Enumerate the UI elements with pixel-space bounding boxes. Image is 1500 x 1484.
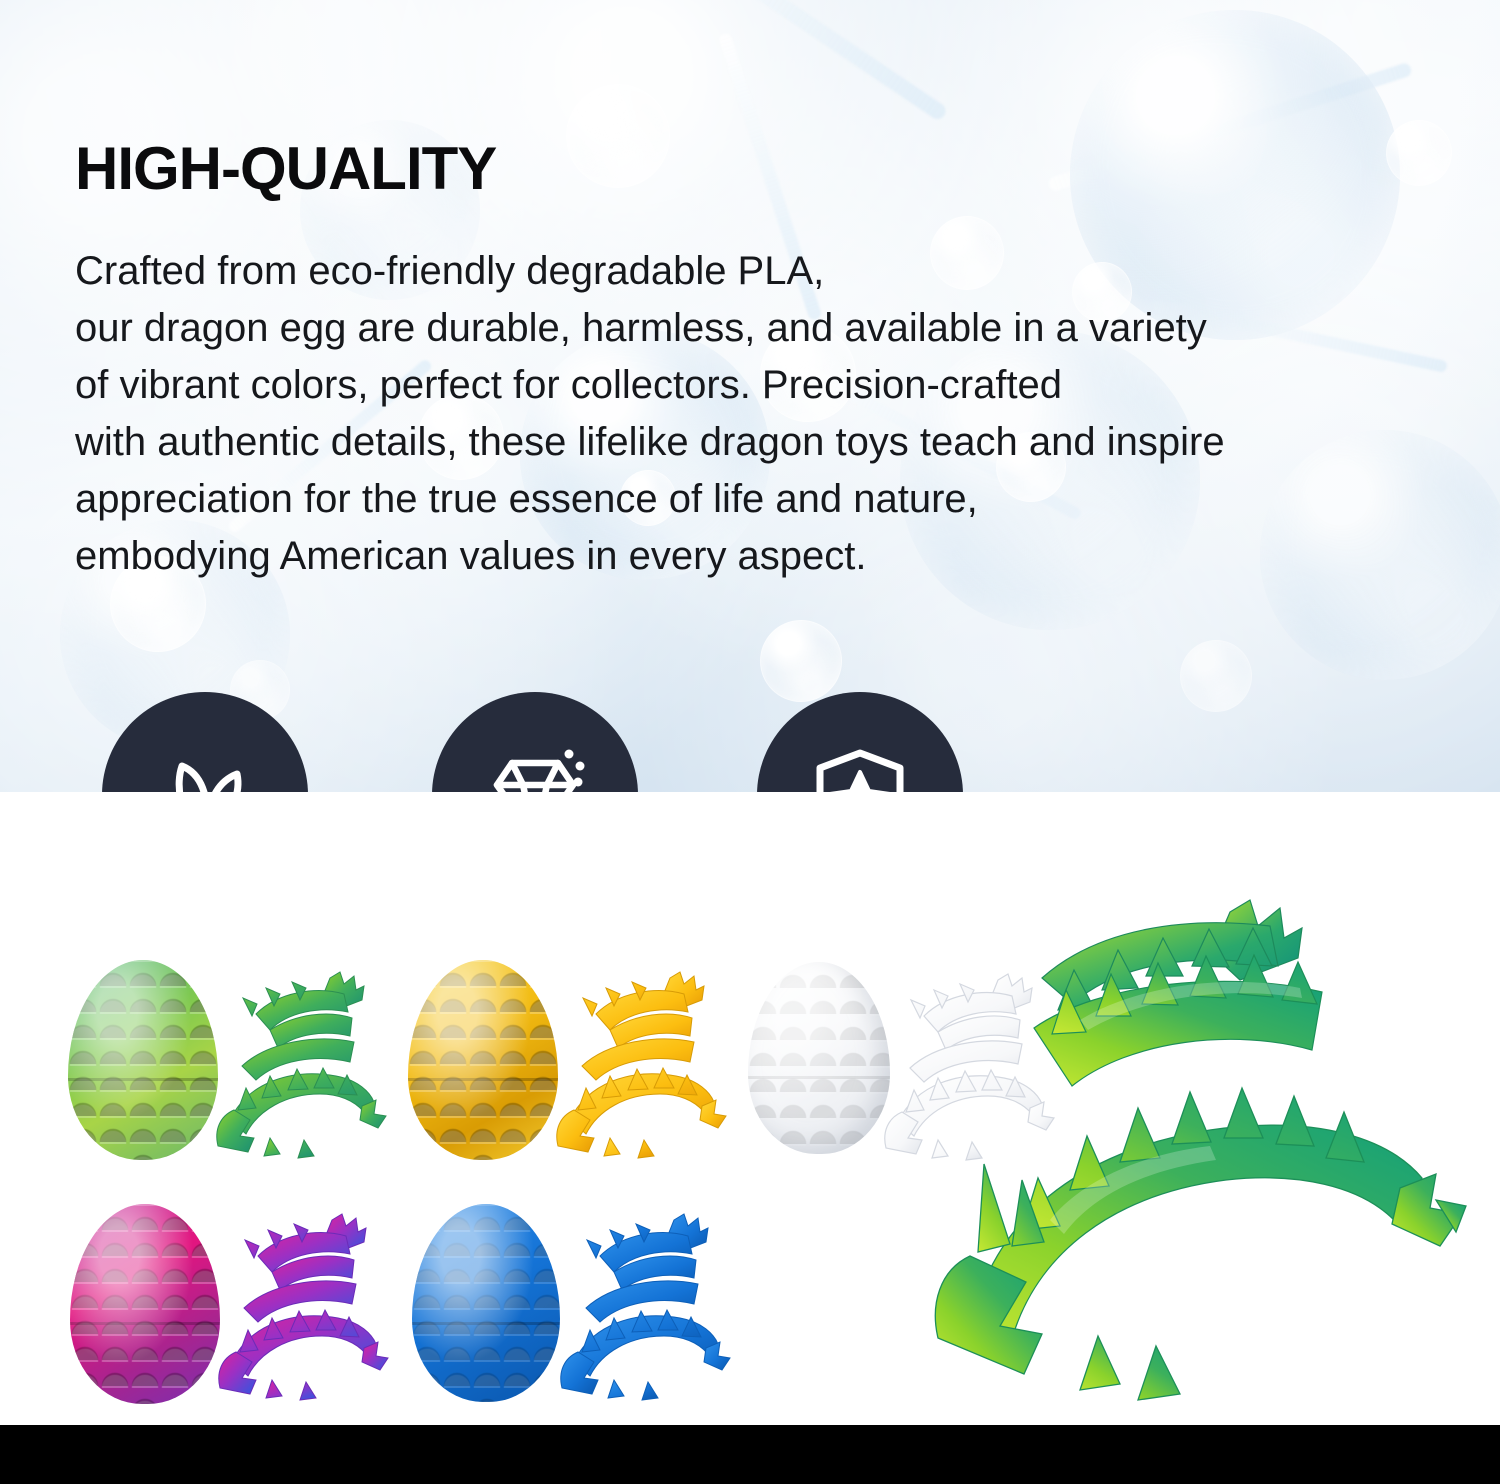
dragon-egg-magenta — [70, 1204, 220, 1404]
footer-bar — [0, 1425, 1500, 1484]
dragon-figure-green — [212, 970, 378, 1156]
dragon-figure-magenta — [214, 1212, 380, 1398]
dragon-egg-gold — [408, 960, 558, 1160]
hero-crystal-dragon — [930, 900, 1490, 1410]
dragon-egg-blue — [412, 1204, 560, 1402]
dragon-egg-green — [68, 960, 218, 1160]
dragon-figure-gold — [552, 970, 718, 1156]
dragon-egg-white — [748, 962, 890, 1154]
product-photo-collage — [0, 792, 1500, 1425]
dragon-figure-blue — [556, 1212, 722, 1398]
